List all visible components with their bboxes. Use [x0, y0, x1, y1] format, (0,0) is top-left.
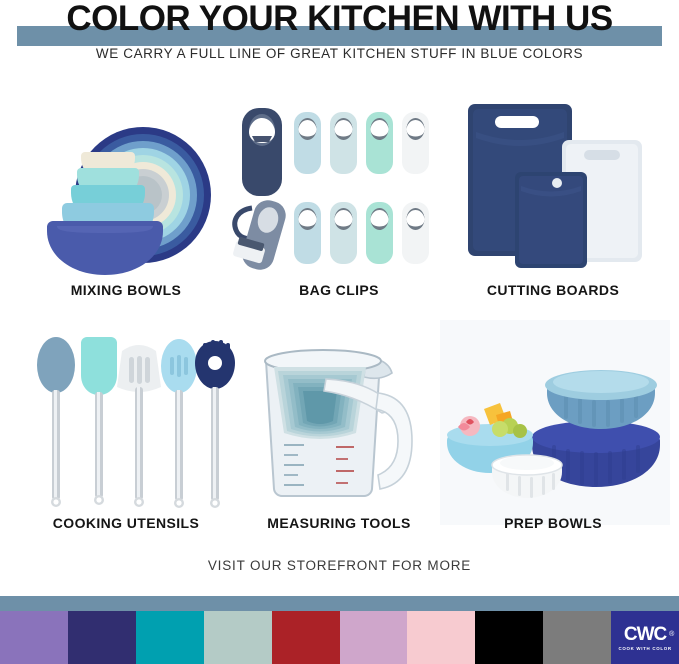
- prep-bowls-icon: [440, 323, 666, 519]
- product-caption: MIXING BOWLS: [13, 282, 239, 298]
- logo-wordmark: CWC®: [624, 625, 666, 644]
- swatch-navy: [68, 611, 136, 664]
- product-cell-cooking-utensils[interactable]: COOKING UTENSILS: [13, 323, 239, 553]
- swatch-brand-blue: CWC® COOK WITH COLOR: [611, 611, 679, 664]
- brand-logo[interactable]: CWC® COOK WITH COLOR: [611, 611, 679, 664]
- product-cell-measuring-tools[interactable]: MEASURING TOOLS: [226, 323, 452, 553]
- nesting-bowls-icon: [13, 90, 239, 286]
- swatch-sage: [204, 611, 272, 664]
- logo-tagline: COOK WITH COLOR: [619, 646, 672, 651]
- bag-clips-icon: [226, 90, 452, 286]
- utensils-icon: [13, 323, 239, 519]
- header: COLOR YOUR KITCHEN WITH US WE CARRY A FU…: [0, 0, 679, 70]
- swatch-red: [272, 611, 340, 664]
- product-cell-mixing-bowls[interactable]: MIXING BOWLS: [13, 90, 239, 320]
- swatch-gray: [543, 611, 611, 664]
- cutting-boards-icon: [440, 90, 666, 286]
- product-caption: COOKING UTENSILS: [13, 515, 239, 531]
- swatch-mauve: [340, 611, 408, 664]
- page-title: COLOR YOUR KITCHEN WITH US: [0, 0, 679, 39]
- kitchen-product-banner: COLOR YOUR KITCHEN WITH US WE CARRY A FU…: [0, 0, 679, 664]
- swatch-teal: [136, 611, 204, 664]
- product-cell-cutting-boards[interactable]: CUTTING BOARDS: [440, 90, 666, 320]
- swatch-purple: [0, 611, 68, 664]
- product-grid: MIXING BOWLS: [0, 90, 679, 550]
- product-cell-prep-bowls[interactable]: PREP BOWLS: [440, 323, 666, 553]
- measuring-jug-icon: [226, 323, 452, 519]
- swatch-light-pink: [407, 611, 475, 664]
- logo-text: CWC: [624, 624, 666, 645]
- registered-mark-icon: ®: [669, 625, 673, 644]
- product-caption: MEASURING TOOLS: [226, 515, 452, 531]
- color-swatch-strip: CWC® COOK WITH COLOR: [0, 611, 679, 664]
- footer-accent-band: [0, 596, 679, 611]
- storefront-cta[interactable]: VISIT OUR STOREFRONT FOR MORE: [0, 558, 679, 573]
- product-caption: CUTTING BOARDS: [440, 282, 666, 298]
- swatch-black: [475, 611, 543, 664]
- product-cell-bag-clips[interactable]: BAG CLIPS: [226, 90, 452, 320]
- product-caption: BAG CLIPS: [226, 282, 452, 298]
- product-caption: PREP BOWLS: [440, 515, 666, 531]
- page-subtitle: WE CARRY A FULL LINE OF GREAT KITCHEN ST…: [0, 46, 679, 61]
